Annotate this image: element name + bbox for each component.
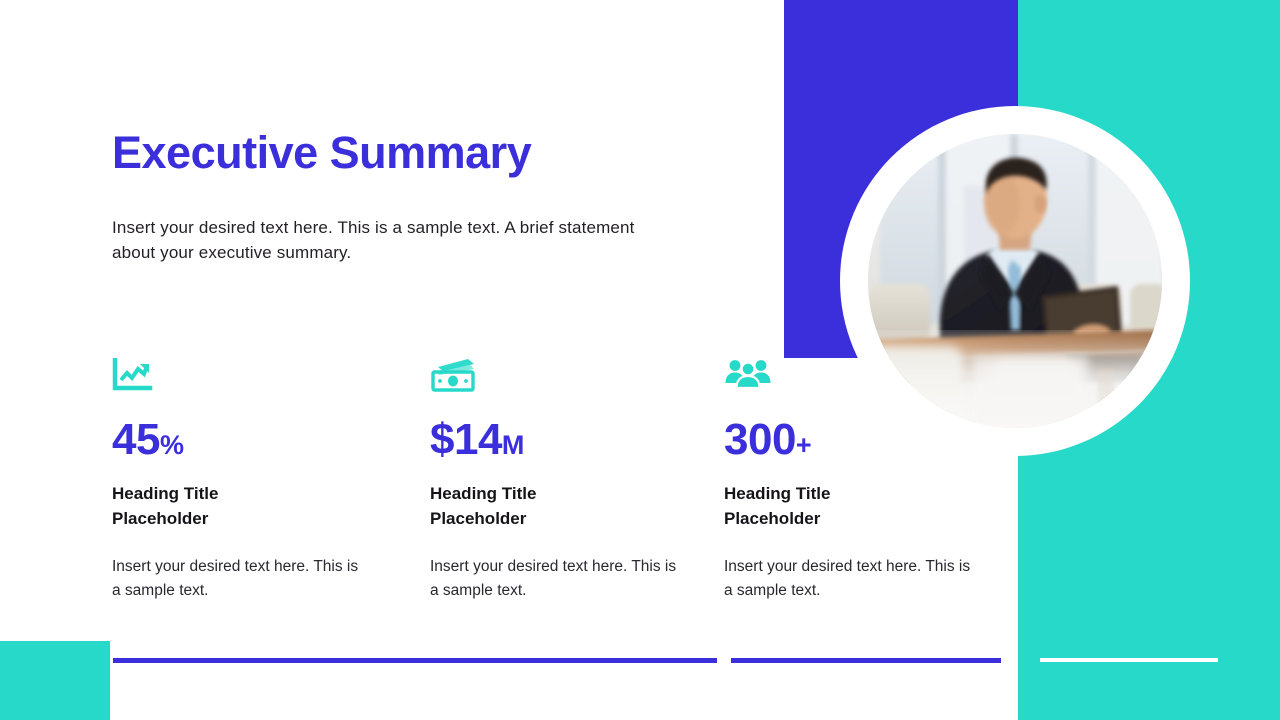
stat-number: 45 — [112, 415, 160, 464]
stat-suffix: % — [160, 430, 184, 460]
stat-number: 300 — [724, 415, 796, 464]
stat-value: 45% — [112, 418, 402, 462]
teal-corner-block — [0, 641, 110, 720]
stat-card-customers: 300+ Heading Title Placeholder Insert yo… — [724, 358, 1014, 602]
stat-value: 300+ — [724, 418, 1014, 462]
stat-heading: Heading Title Placeholder — [430, 482, 620, 531]
stat-description: Insert your desired text here. This is a… — [724, 555, 974, 602]
intro-paragraph: Insert your desired text here. This is a… — [112, 215, 672, 265]
footer-rule-middle — [731, 658, 1001, 663]
stat-description: Insert your desired text here. This is a… — [112, 555, 362, 602]
footer-rule-left — [113, 658, 717, 663]
stat-heading: Heading Title Placeholder — [112, 482, 302, 531]
stat-heading: Heading Title Placeholder — [724, 482, 914, 531]
stat-number: $14 — [430, 415, 502, 464]
page-title: Executive Summary — [112, 128, 531, 178]
stat-card-revenue: $14M Heading Title Placeholder Insert yo… — [430, 358, 720, 602]
stat-card-growth: 45% Heading Title Placeholder Insert you… — [112, 358, 402, 602]
stat-suffix: + — [796, 430, 812, 460]
stat-suffix: M — [502, 430, 525, 460]
people-group-icon — [724, 358, 1014, 396]
stat-value: $14M — [430, 418, 720, 462]
footer-rule-right — [1040, 658, 1218, 662]
line-chart-growth-icon — [112, 358, 402, 396]
money-cash-icon — [430, 358, 720, 396]
stat-description: Insert your desired text here. This is a… — [430, 555, 680, 602]
